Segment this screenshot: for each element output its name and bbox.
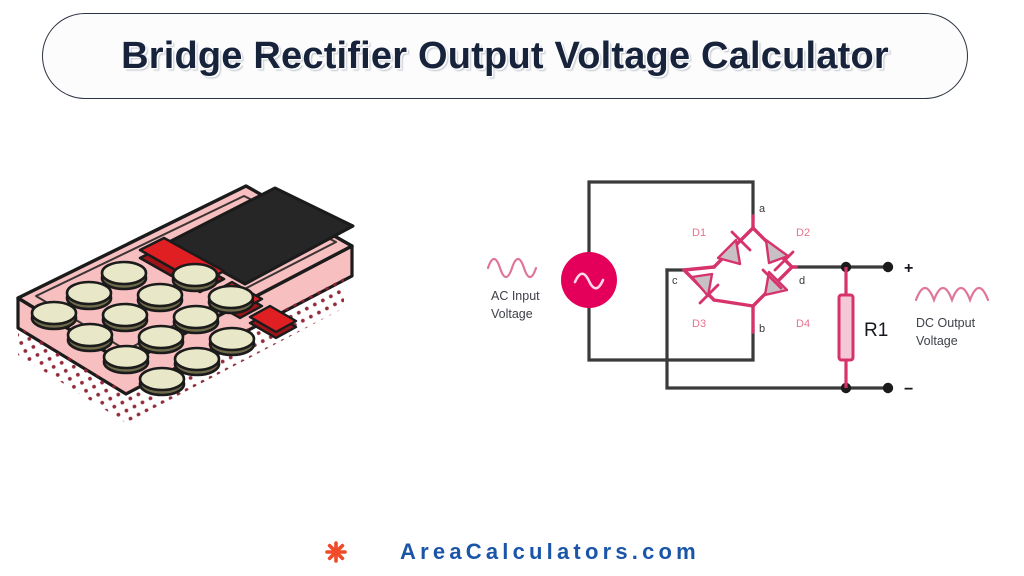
ac-input-label-line2: Voltage [491, 307, 533, 321]
page-root: Bridge Rectifier Output Voltage Calculat… [0, 0, 1024, 576]
diode-label-D1: D1 [692, 227, 706, 239]
bridge-rectifier-circuit: AC Input Voltage [466, 160, 1024, 410]
terminal-dot-positive [883, 262, 893, 272]
terminal-dot-negative [883, 383, 893, 393]
node-label-d: d [799, 275, 805, 287]
node-label-a: a [759, 203, 766, 215]
dc-output-label-line2: Voltage [916, 334, 958, 348]
page-title: Bridge Rectifier Output Voltage Calculat… [121, 35, 889, 78]
dc-output-label-line1: DC Output [916, 316, 976, 330]
asterisk-icon [324, 540, 348, 564]
circuit-svg: AC Input Voltage [466, 160, 1024, 410]
diode-label-D2: D2 [796, 227, 810, 239]
footer: AreaCalculators.com [0, 532, 1024, 572]
ac-input-caption: AC Input Voltage [488, 259, 540, 321]
resistor-label: R1 [864, 320, 888, 341]
node-label-c: c [672, 275, 678, 287]
calculator-svg [14, 180, 374, 430]
terminal-label-positive: + [904, 260, 913, 277]
node-label-b: b [759, 323, 765, 335]
resistor-R1: R1 [839, 267, 888, 388]
page-title-pill: Bridge Rectifier Output Voltage Calculat… [42, 13, 968, 99]
calculator-illustration [14, 180, 374, 430]
sine-wave-icon [488, 259, 536, 277]
ac-input-label-line1: AC Input [491, 289, 540, 303]
ac-source-symbol [561, 252, 617, 308]
rectified-wave-icon [916, 288, 988, 300]
dc-output-caption: DC Output Voltage [916, 288, 988, 348]
diode-label-D4: D4 [796, 318, 810, 330]
diode-label-D3: D3 [692, 318, 706, 330]
terminal-label-negative: − [904, 381, 913, 398]
footer-brand[interactable]: AreaCalculators.com [400, 539, 700, 565]
